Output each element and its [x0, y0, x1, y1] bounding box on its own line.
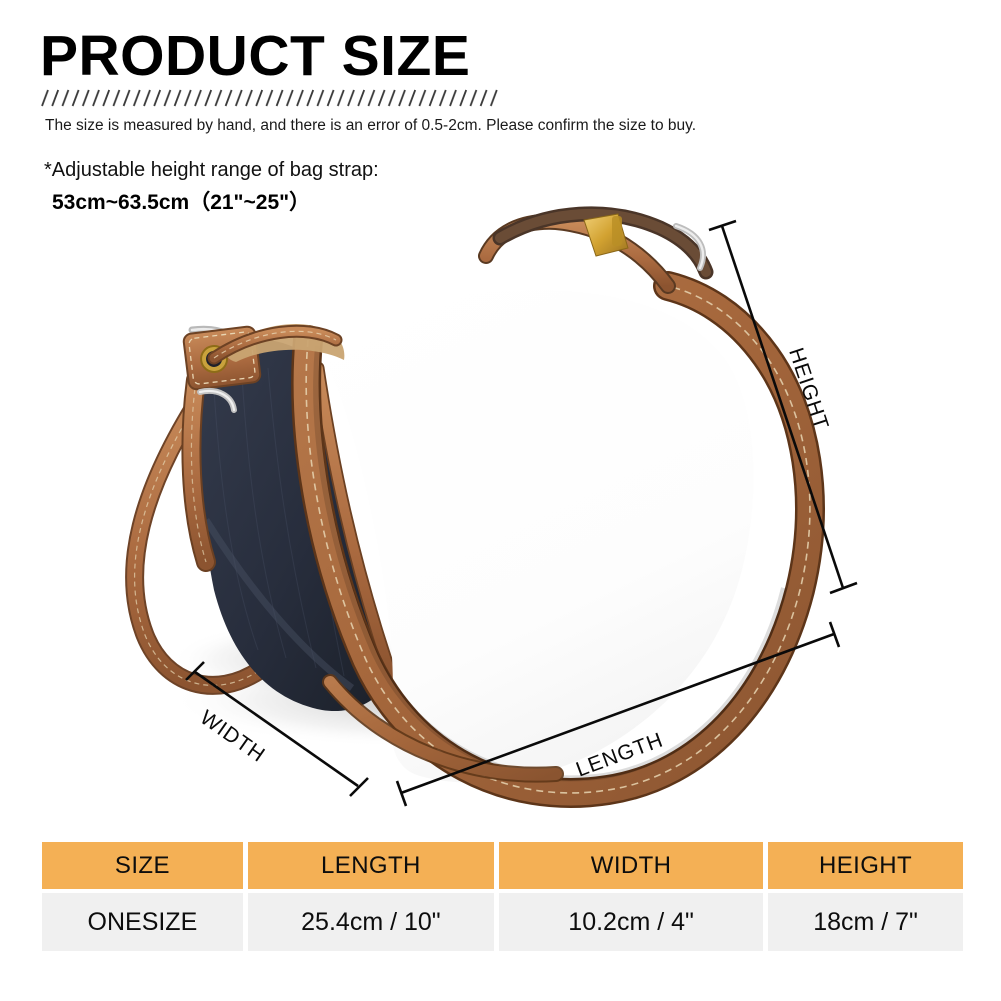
- size-table: SIZE LENGTH WIDTH HEIGHT ONESIZE 25.4cm …: [42, 842, 963, 951]
- cell-size: ONESIZE: [42, 893, 243, 951]
- column-header-height: HEIGHT: [768, 842, 963, 889]
- column-header-length: LENGTH: [248, 842, 494, 889]
- strap-adjustable-note: *Adjustable height range of bag strap:: [44, 158, 379, 183]
- table-header-row: SIZE LENGTH WIDTH HEIGHT: [42, 842, 963, 889]
- column-header-width: WIDTH: [499, 842, 763, 889]
- cell-width: 10.2cm / 4": [499, 893, 763, 951]
- measurement-disclaimer: The size is measured by hand, and there …: [45, 116, 696, 136]
- cell-length: 25.4cm / 10": [248, 893, 494, 951]
- table-row: ONESIZE 25.4cm / 10" 10.2cm / 4" 18cm / …: [42, 893, 963, 951]
- product-size-infographic: PRODUCT SIZE The size is measured by han…: [0, 0, 1001, 1001]
- product-illustration: [0, 190, 1001, 820]
- page-title: PRODUCT SIZE: [40, 28, 470, 85]
- diagonal-hatch-rule-icon: [40, 88, 500, 108]
- column-header-size: SIZE: [42, 842, 243, 889]
- cell-height: 18cm / 7": [768, 893, 963, 951]
